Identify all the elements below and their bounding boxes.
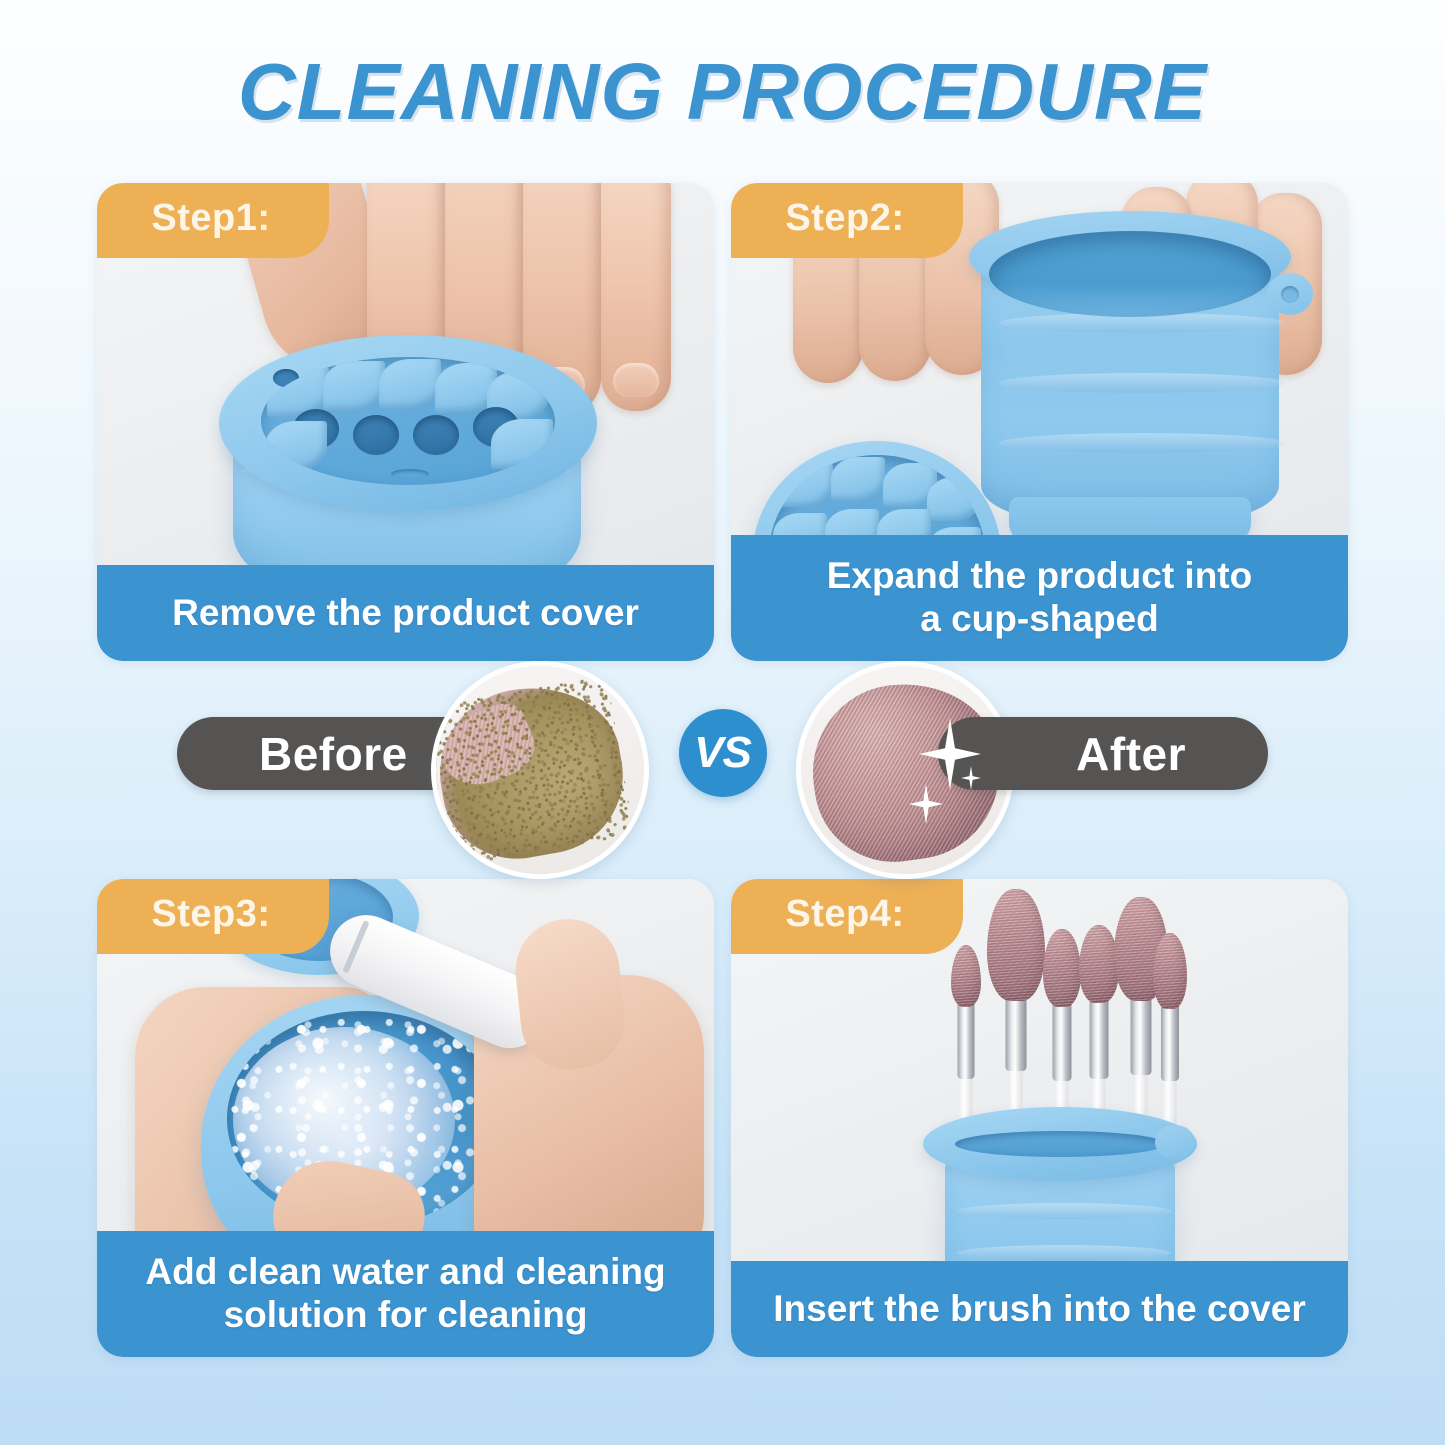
step-2-badge-label: Step2: (785, 197, 904, 240)
step-1-caption-text: Remove the product cover (172, 592, 639, 635)
after-label-pill: After (938, 717, 1268, 790)
step-1-badge: Step1: (97, 183, 329, 258)
step-card-1[interactable]: Step1: Remove the product cover (97, 183, 714, 661)
step-4-badge-label: Step4: (785, 893, 904, 936)
page-title: CLEANING PROCEDURE (0, 52, 1445, 132)
step-2-caption-text: Expand the product into a cup-shaped (827, 555, 1252, 641)
vs-label: VS (694, 728, 751, 778)
header: CLEANING PROCEDURE (0, 0, 1445, 132)
before-label: Before (259, 727, 408, 781)
step-3-badge: Step3: (97, 879, 329, 954)
step-4-caption-text: Insert the brush into the cover (773, 1288, 1305, 1331)
powder-residue (431, 673, 635, 870)
expanded-silicone-cup (969, 211, 1291, 563)
step-card-4[interactable]: Step4: Insert the brush into the cover (731, 879, 1348, 1357)
step-2-caption: Expand the product into a cup-shaped (731, 535, 1348, 661)
step-2-badge: Step2: (731, 183, 963, 258)
step-3-badge-label: Step3: (151, 893, 270, 936)
step-3-caption: Add clean water and cleaning solution fo… (97, 1231, 714, 1357)
vs-badge: VS (679, 709, 767, 797)
step-card-3[interactable]: Step3: Add clean water and cleaning solu… (97, 879, 714, 1357)
step-1-badge-label: Step1: (151, 197, 270, 240)
step-4-badge: Step4: (731, 879, 963, 954)
step-card-2[interactable]: Step2: Expand the product into a cup-sha… (731, 183, 1348, 661)
before-after-comparison: Before VS After (97, 661, 1348, 879)
step-1-caption: Remove the product cover (97, 565, 714, 661)
after-label: After (1076, 727, 1186, 781)
dirty-brush (431, 673, 635, 870)
before-brush-photo (431, 661, 649, 879)
step-4-caption: Insert the brush into the cover (731, 1261, 1348, 1357)
step-3-caption-text: Add clean water and cleaning solution fo… (145, 1251, 665, 1337)
